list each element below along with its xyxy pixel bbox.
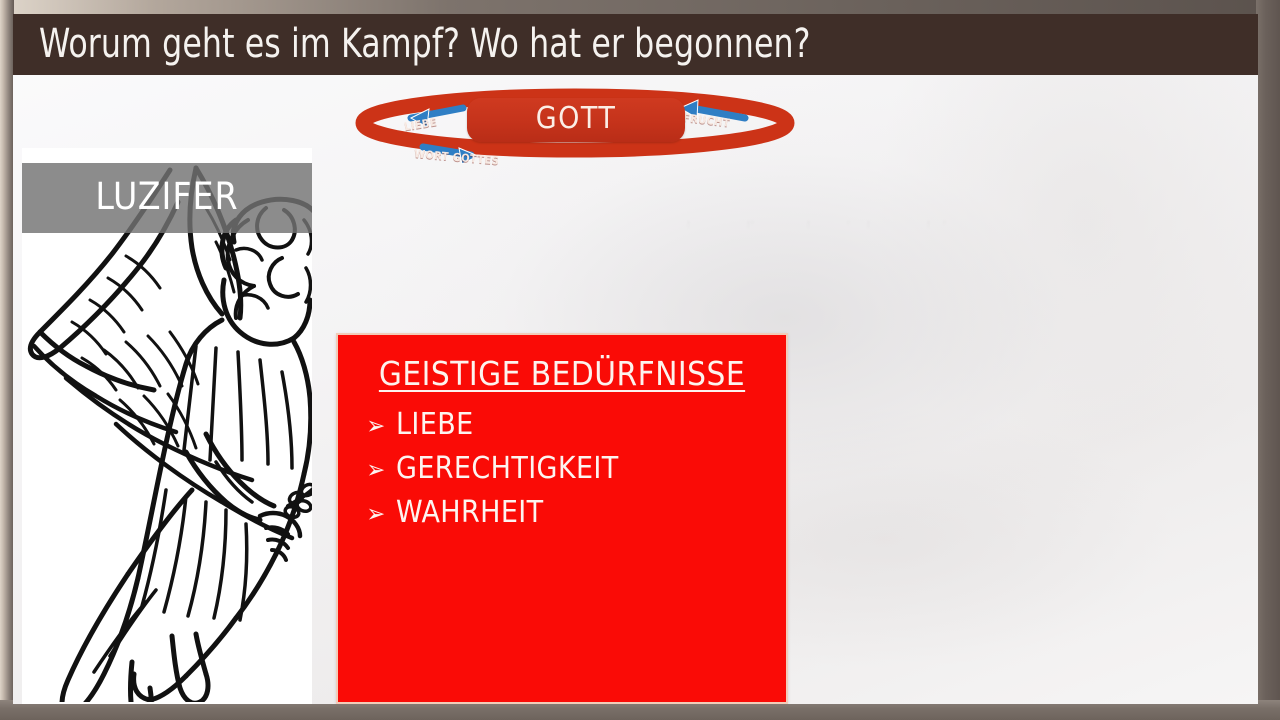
- gott-label: GOTT: [467, 101, 685, 136]
- needs-heading: GEISTIGE BEDÜRFNISSE: [338, 354, 786, 393]
- list-item-label: WAHRHEIT: [396, 495, 544, 530]
- list-item: ➢ WAHRHEIT: [356, 495, 786, 530]
- needs-list: ➢ LIEBE ➢ GERECHTIGKEIT ➢ WAHRHEIT: [338, 407, 786, 530]
- slide-outer-frame: Worum geht es im Kampf? Wo hat er begonn…: [0, 0, 1280, 720]
- geistige-beduerfnisse-box: GEISTIGE BEDÜRFNISSE ➢ LIEBE ➢ GERECHTIG…: [336, 333, 788, 704]
- presentation-slide: Worum geht es im Kampf? Wo hat er begonn…: [13, 14, 1258, 704]
- gott-center-box: GOTT: [467, 98, 685, 142]
- luzifer-label: LUZIFER: [22, 175, 312, 218]
- arrow-bullet-icon: ➢: [356, 457, 396, 482]
- frame-right-edge: [1256, 0, 1280, 720]
- slide-title-bar: Worum geht es im Kampf? Wo hat er begonn…: [13, 14, 1258, 75]
- list-item: ➢ GERECHTIGKEIT: [356, 451, 786, 486]
- arrow-bullet-icon: ➢: [356, 501, 396, 526]
- arrow-bullet-icon: ➢: [356, 413, 396, 438]
- frame-left-edge: [0, 0, 14, 720]
- luzifer-label-band: LUZIFER: [22, 163, 312, 233]
- list-item-label: GERECHTIGKEIT: [396, 451, 619, 486]
- list-item: ➢ LIEBE: [356, 407, 786, 442]
- list-item-label: LIEBE: [396, 407, 474, 442]
- gott-ring-diagram: LIEBE WORT GOTTES FRUCHT GOTT: [345, 82, 805, 164]
- slide-title: Worum geht es im Kampf? Wo hat er begonn…: [39, 21, 811, 67]
